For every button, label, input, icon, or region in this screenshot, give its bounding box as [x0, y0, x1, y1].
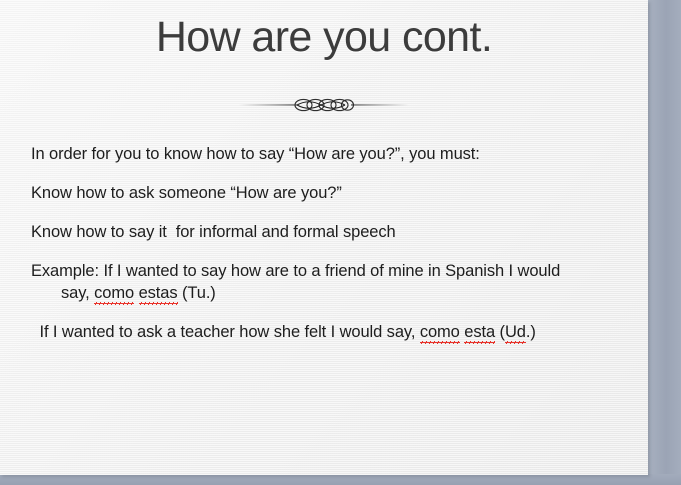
misspelled-word-como-1[interactable]: como — [94, 284, 134, 305]
body-paragraph-intro[interactable]: In order for you to know how to say “How… — [31, 143, 591, 165]
misspelled-word-esta[interactable]: esta — [464, 323, 495, 344]
misspelled-word-ud[interactable]: Ud — [505, 323, 526, 344]
body-paragraph-example-formal[interactable]: If I wanted to ask a teacher how she fel… — [31, 321, 591, 343]
example-formal-tail: .) — [526, 323, 536, 341]
example-informal-tail: (Tu.) — [178, 284, 216, 302]
frame-band-right — [648, 0, 681, 485]
body-paragraph-example-informal[interactable]: Example: If I wanted to say how are to a… — [31, 260, 591, 304]
page-title[interactable]: How are you cont. — [0, 14, 648, 61]
slide-canvas[interactable]: How are you cont. — [0, 0, 648, 475]
example-formal-mid: ( — [495, 323, 505, 341]
ornamental-braid-divider-icon — [0, 95, 648, 115]
frame-band-bottom — [0, 474, 681, 485]
title-block: How are you cont. — [0, 14, 648, 61]
example-formal-lead: If I wanted to ask a teacher how she fel… — [35, 323, 420, 341]
body-paragraph-ask[interactable]: Know how to ask someone “How are you?” — [31, 182, 591, 204]
example-informal-space — [134, 284, 138, 302]
misspelled-word-como-2[interactable]: como — [420, 323, 460, 344]
body-text-block: In order for you to know how to say “How… — [31, 143, 591, 343]
body-paragraph-register[interactable]: Know how to say it for informal and form… — [31, 221, 591, 243]
slide-stage: How are you cont. — [0, 0, 681, 485]
misspelled-word-estas[interactable]: estas — [139, 284, 178, 305]
